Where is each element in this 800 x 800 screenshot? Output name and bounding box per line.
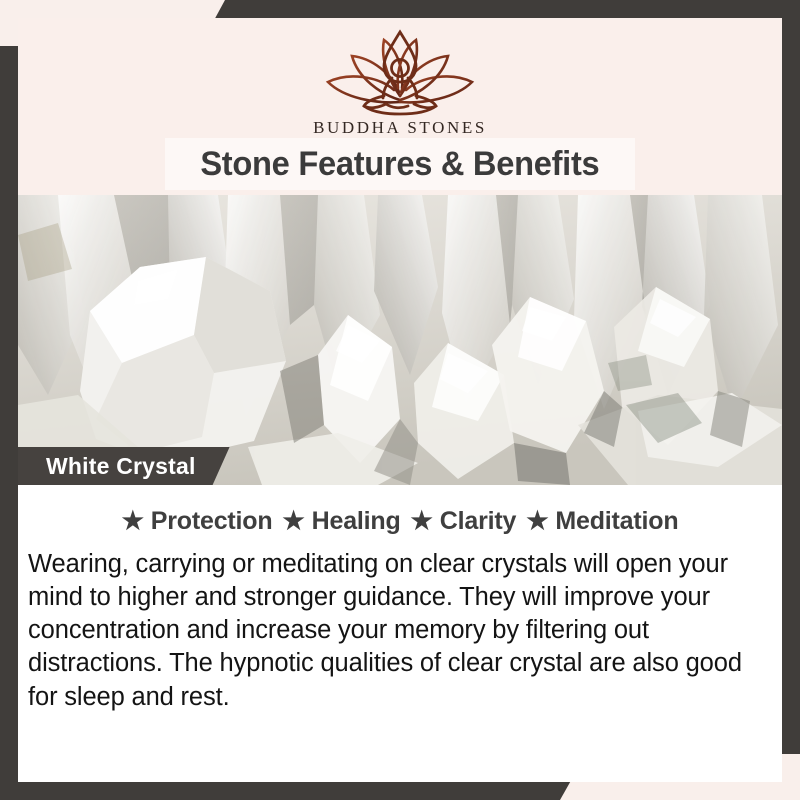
- benefit-label: Meditation: [555, 507, 678, 536]
- title-panel: Stone Features & Benefits: [165, 138, 635, 190]
- benefit-label: Healing: [312, 507, 401, 536]
- poster-card: BUDDHA STONES Stone Features & Benefits: [18, 18, 782, 782]
- brand-name: BUDDHA STONES: [18, 118, 782, 138]
- star-icon: ★: [526, 509, 548, 534]
- poster-root: BUDDHA STONES Stone Features & Benefits: [0, 0, 800, 800]
- benefit-label: Protection: [151, 507, 273, 536]
- description-text: Wearing, carrying or meditating on clear…: [28, 548, 774, 714]
- benefit-item: ★ Healing: [272, 507, 400, 536]
- poster-body: ★ Protection ★ Healing ★ Clarity ★ Medit…: [18, 485, 782, 782]
- lotus-meditation-icon: [314, 24, 486, 116]
- brand-logo: BUDDHA STONES: [18, 24, 782, 138]
- page-title: Stone Features & Benefits: [200, 145, 599, 184]
- poster-header: BUDDHA STONES Stone Features & Benefits: [18, 18, 782, 195]
- photo-caption-text: White Crystal: [46, 453, 196, 480]
- benefits-row: ★ Protection ★ Healing ★ Clarity ★ Medit…: [18, 485, 782, 536]
- benefit-label: Clarity: [440, 507, 516, 536]
- crystal-photo: White Crystal: [18, 195, 782, 485]
- star-icon: ★: [411, 509, 433, 534]
- benefit-item: ★ Protection: [122, 507, 273, 536]
- crystal-cluster-illustration: [18, 195, 782, 485]
- benefit-item: ★ Meditation: [516, 507, 678, 536]
- star-icon: ★: [282, 509, 304, 534]
- benefit-item: ★ Clarity: [401, 507, 517, 536]
- star-icon: ★: [122, 509, 144, 534]
- photo-caption-bar: White Crystal: [18, 447, 230, 485]
